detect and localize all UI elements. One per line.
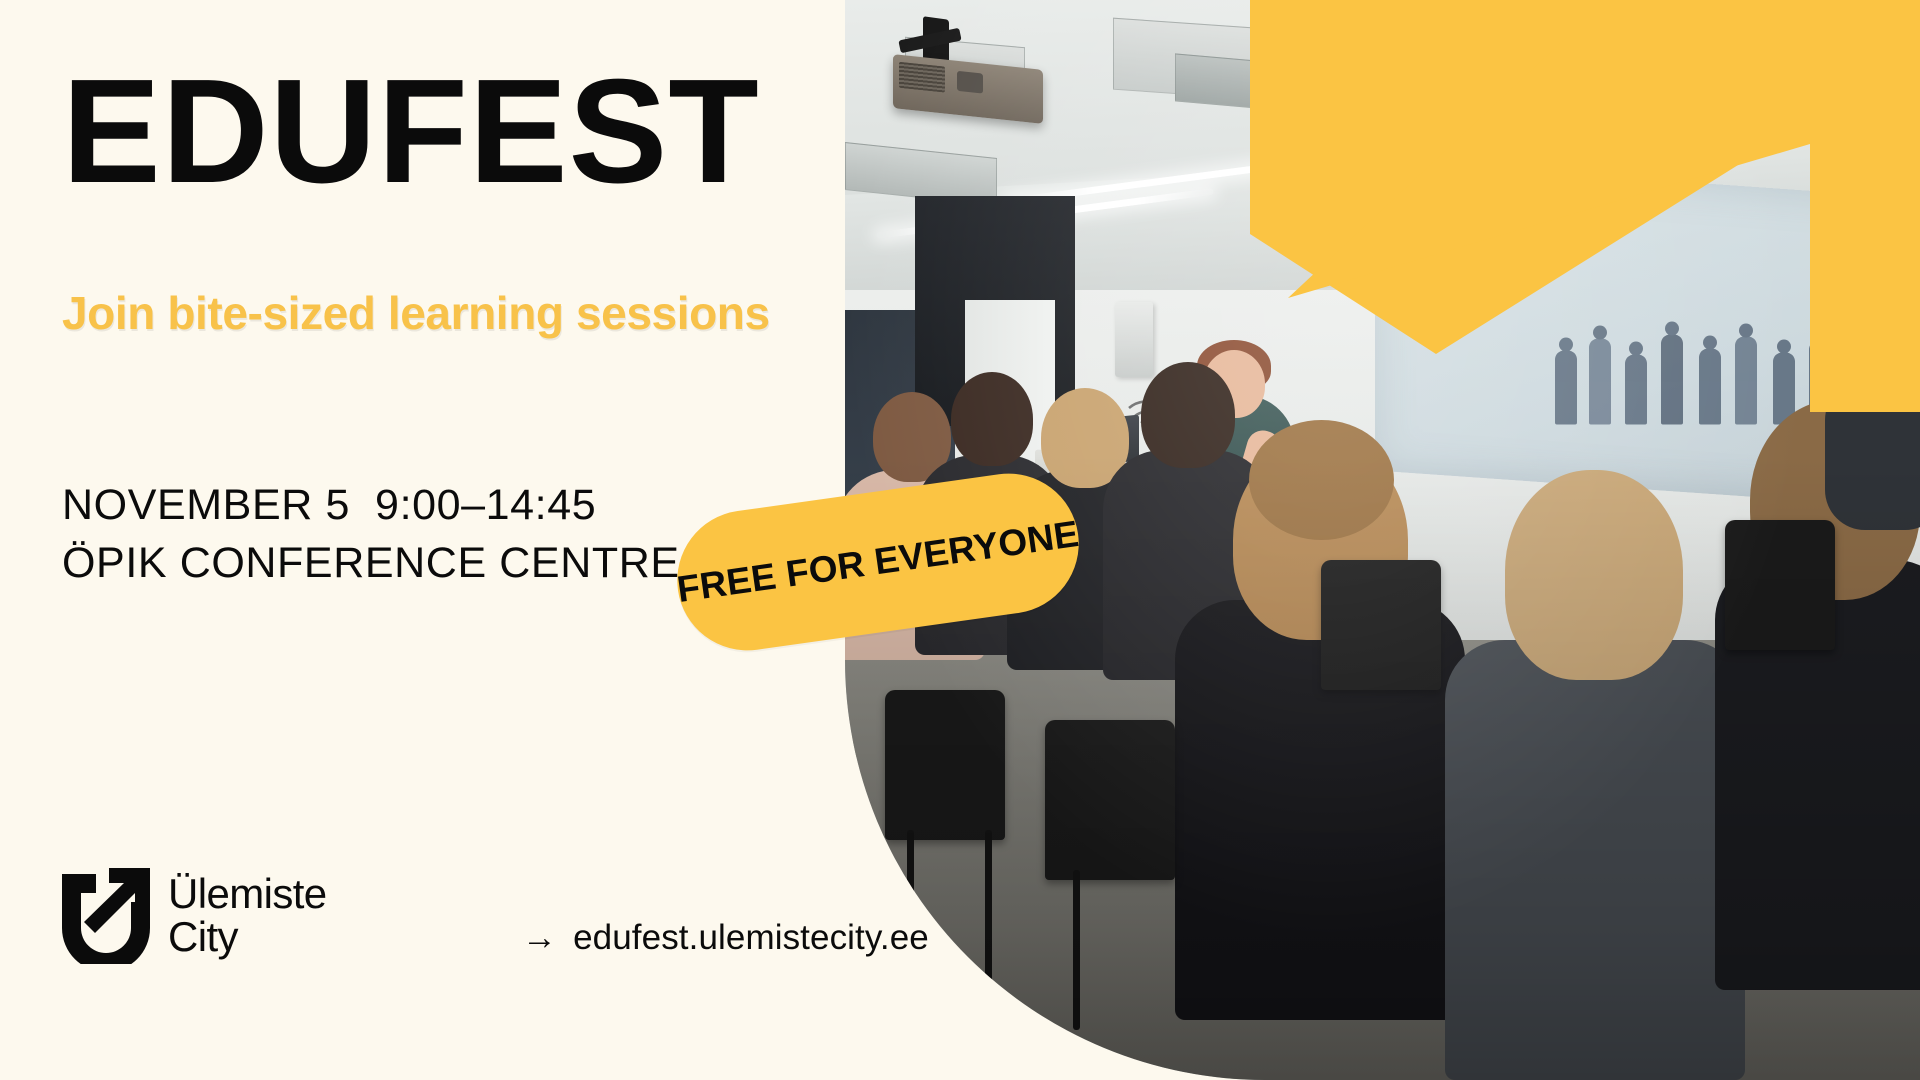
chair — [1725, 520, 1835, 650]
logo-line-1: Ülemiste — [168, 873, 327, 916]
chair-leg — [985, 830, 992, 1010]
arrow-right-icon: → — [522, 920, 557, 955]
audience-member — [1141, 362, 1235, 468]
subtitle: Join bite-sized learning sessions — [62, 288, 770, 339]
chair — [1321, 560, 1441, 690]
screen-text: Citius — [1435, 215, 1510, 249]
event-date-time: NOVEMBER 5 9:00–14:45 — [62, 476, 680, 534]
ulemiste-city-arrow-mark — [62, 868, 150, 964]
audience-member — [1505, 470, 1683, 680]
chair — [1045, 720, 1175, 880]
event-venue: ÖPIK CONFERENCE CENTRE — [62, 534, 680, 592]
logo-wordmark: Ülemiste City — [168, 873, 327, 959]
audience-member — [1825, 380, 1920, 530]
audience-member — [1445, 640, 1745, 1080]
badge-label: FREE FOR EVERYONE — [675, 513, 1082, 611]
wall-speaker — [1115, 302, 1153, 377]
event-details: NOVEMBER 5 9:00–14:45 ÖPIK CONFERENCE CE… — [62, 476, 680, 592]
chair — [885, 690, 1005, 840]
audience-member — [1249, 420, 1394, 540]
cta-url[interactable]: → edufest.ulemistecity.ee — [522, 918, 929, 958]
page-title: EDUFEST — [62, 58, 760, 206]
cta-url-text: edufest.ulemistecity.ee — [573, 918, 929, 958]
logo-line-2: City — [168, 916, 327, 959]
edufest-promo-banner: Citius — [0, 0, 1920, 1080]
chair-leg — [1073, 870, 1080, 1030]
ulemiste-city-logo[interactable]: Ülemiste City — [62, 868, 327, 964]
audience-member — [951, 372, 1033, 466]
